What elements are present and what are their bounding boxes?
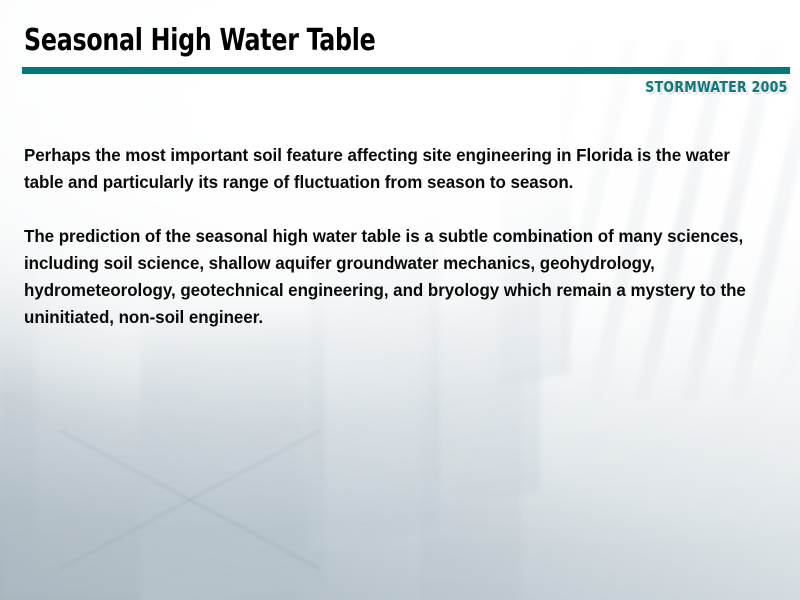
body-paragraph-1: Perhaps the most important soil feature … <box>24 142 757 196</box>
slide-title: Seasonal High Water Table <box>24 24 640 58</box>
slide-body: Perhaps the most important soil feature … <box>24 142 780 331</box>
stormwater-2005-logo: STORMWATER 2005 <box>646 78 788 96</box>
presentation-slide: Seasonal High Water Table STORMWATER 200… <box>0 0 800 600</box>
title-divider-rule <box>22 67 790 74</box>
body-paragraph-2: The prediction of the seasonal high wate… <box>24 223 757 331</box>
background-hairlines <box>60 400 320 600</box>
